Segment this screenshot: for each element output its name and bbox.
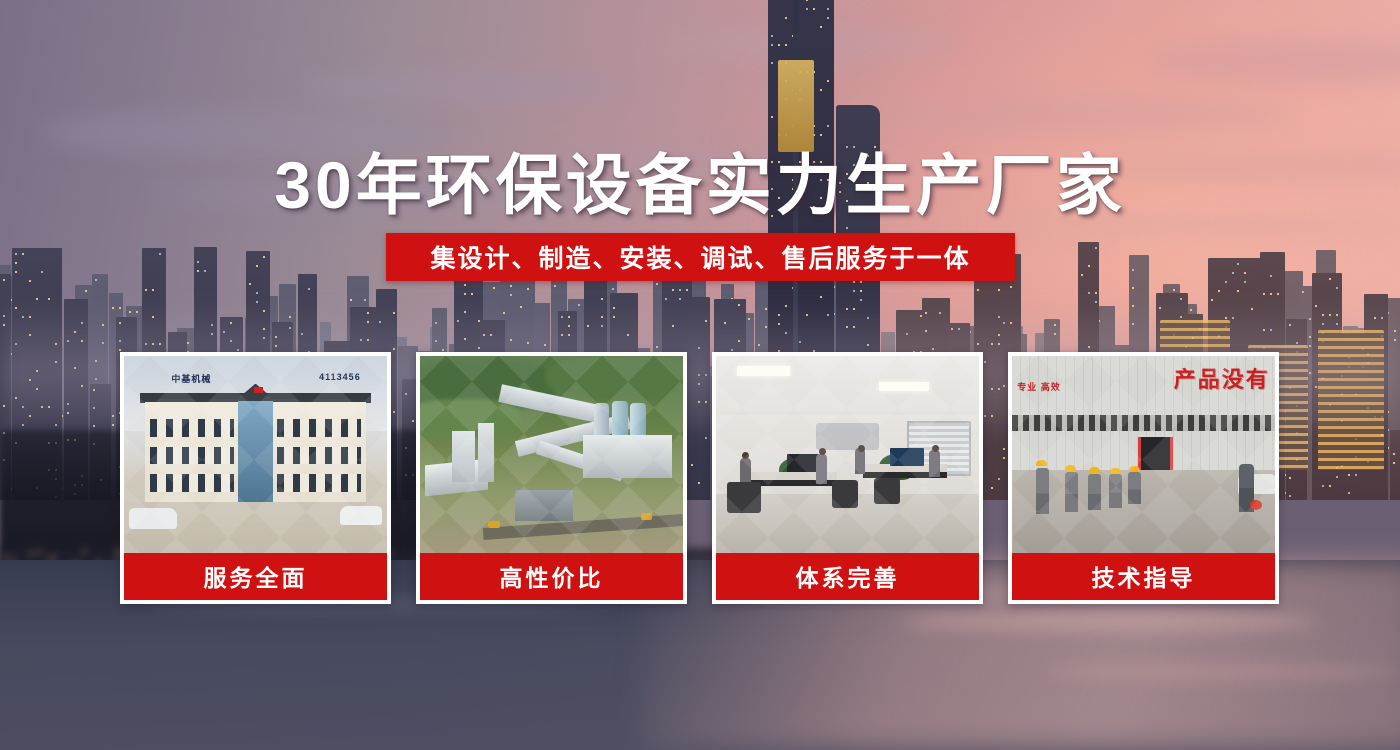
employee: [929, 450, 940, 477]
monitor: [787, 454, 819, 472]
factory-slogan-main: 产品没有: [1174, 362, 1270, 394]
factory-yard: [1012, 470, 1275, 553]
factory-door: [1138, 437, 1173, 474]
card-caption: 高性价比: [420, 553, 683, 600]
silo: [612, 401, 628, 434]
window-row: [277, 419, 361, 437]
road: [483, 514, 683, 540]
feature-card[interactable]: 产品没有 专业 高效 技术指导: [1008, 352, 1279, 604]
card-photo-office: [716, 356, 979, 553]
worker: [1088, 474, 1101, 510]
card-caption: 技术指导: [1012, 553, 1275, 600]
page-title: 30年环保设备实力生产厂家: [0, 132, 1400, 228]
window-row: [150, 474, 234, 492]
subtitle-bar: 集设计、制造、安装、调试、售后服务于一体: [386, 233, 1015, 281]
car: [340, 506, 382, 526]
employee-head: [932, 445, 939, 452]
plant-shed: [583, 435, 672, 478]
hard-hat: [1110, 468, 1121, 474]
card-caption: 体系完善: [716, 553, 979, 600]
factory-slogan-side: 专业 高效: [1017, 380, 1061, 393]
hard-hat: [1065, 465, 1076, 471]
flag: [254, 387, 263, 393]
building-phone-text: 4113456: [319, 372, 361, 382]
subtitle-text: 集设计、制造、安装、调试、售后服务于一体: [430, 239, 970, 275]
feature-card[interactable]: 中基机械 4113456 服务全面: [120, 352, 391, 604]
silo: [594, 403, 610, 434]
worker: [1109, 474, 1122, 508]
card-photo-plant: [420, 356, 683, 553]
plant-shed: [515, 490, 573, 521]
card-photo-workers: 产品没有 专业 高效: [1012, 356, 1275, 553]
employee: [816, 454, 827, 484]
building-glass-core: [238, 401, 272, 503]
window-row: [150, 447, 234, 465]
chair: [727, 482, 761, 513]
feature-card[interactable]: 体系完善: [712, 352, 983, 604]
building-sign-text: 中基机械: [171, 372, 211, 385]
green-field: [546, 356, 683, 399]
plant-tower: [478, 423, 494, 482]
silo: [630, 403, 646, 434]
wall-logo: [816, 423, 879, 451]
factory-window-band: [1012, 415, 1275, 431]
hard-hat: [1129, 466, 1140, 472]
plant-tower: [452, 431, 476, 482]
monitor: [890, 448, 924, 466]
excavator: [641, 513, 652, 520]
feature-card-list: 中基机械 4113456 服务全面: [120, 352, 1280, 604]
window-row: [277, 474, 361, 492]
window-row: [277, 447, 361, 465]
employee: [855, 448, 865, 474]
card-caption: 服务全面: [124, 553, 387, 600]
excavator: [488, 521, 500, 528]
red-helmet: [1250, 500, 1262, 510]
window-row: [150, 419, 234, 437]
chair: [832, 480, 858, 508]
feature-card[interactable]: 高性价比: [416, 352, 687, 604]
hard-hat: [1089, 467, 1100, 473]
worker: [1128, 472, 1141, 504]
hard-hat: [1036, 460, 1047, 466]
chair: [874, 478, 900, 504]
worker: [1065, 472, 1078, 512]
water-streak: [1040, 666, 1400, 678]
card-photo-building: 中基机械 4113456: [124, 356, 387, 553]
worker: [1036, 468, 1049, 514]
promo-banner: 30年环保设备实力生产厂家 集设计、制造、安装、调试、售后服务于一体: [0, 0, 1400, 750]
car: [129, 508, 176, 530]
ceiling-light: [737, 366, 790, 376]
water-streak: [900, 614, 1320, 630]
building: [1390, 430, 1400, 500]
ceiling-light: [879, 382, 929, 392]
employee-head: [858, 445, 865, 452]
